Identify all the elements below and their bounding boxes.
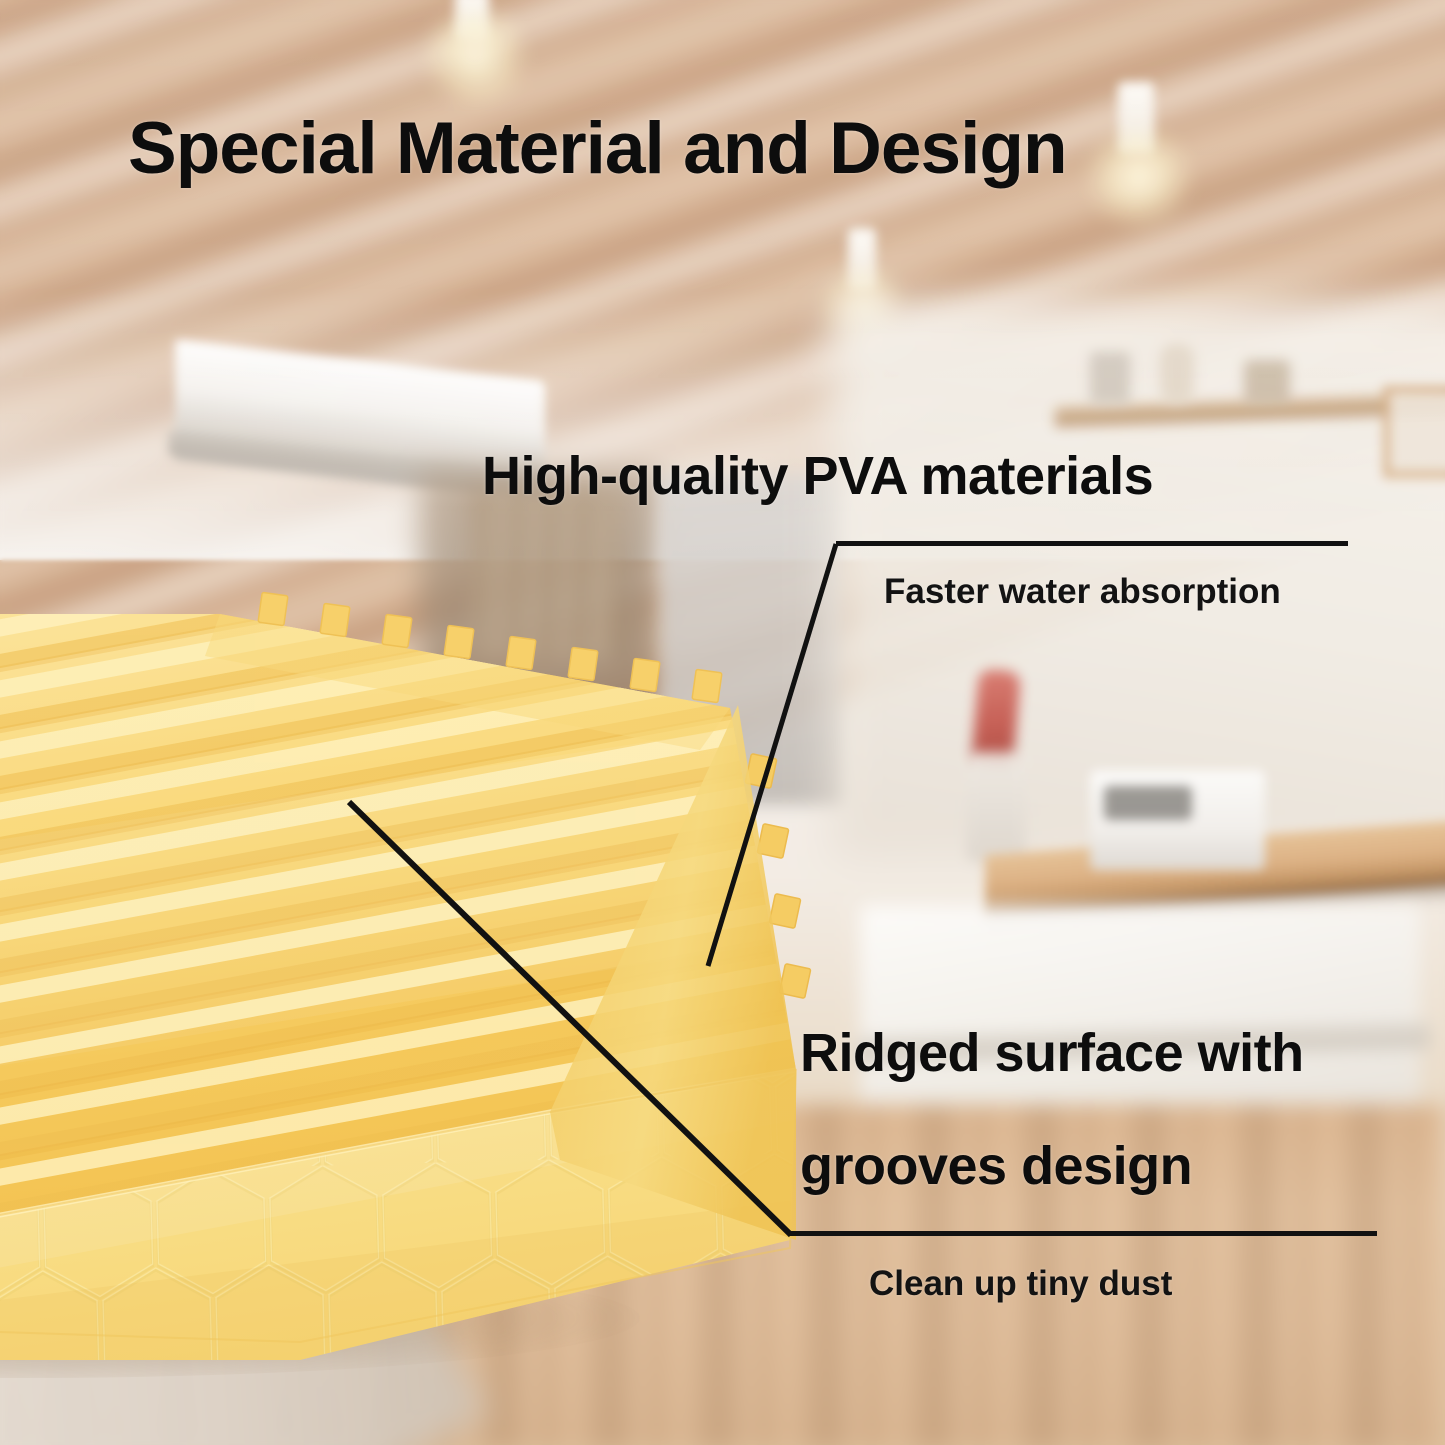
page-title: Special Material and Design (128, 112, 1067, 185)
callout-headline-material: High-quality PVA materials (482, 445, 1153, 507)
infographic-canvas: Special Material and Design High-quality… (0, 0, 1445, 1445)
callout-subtext-surface: Clean up tiny dust (869, 1264, 1172, 1304)
callout-rule-material (836, 541, 1348, 546)
callout-rule-surface (789, 1231, 1377, 1236)
callout-subtext-material: Faster water absorption (884, 572, 1281, 612)
callout-headline-surface-line1: Ridged surface with (800, 1022, 1304, 1084)
product-sponge (0, 600, 820, 1360)
callout-headline-surface-line2: grooves design (800, 1135, 1192, 1197)
